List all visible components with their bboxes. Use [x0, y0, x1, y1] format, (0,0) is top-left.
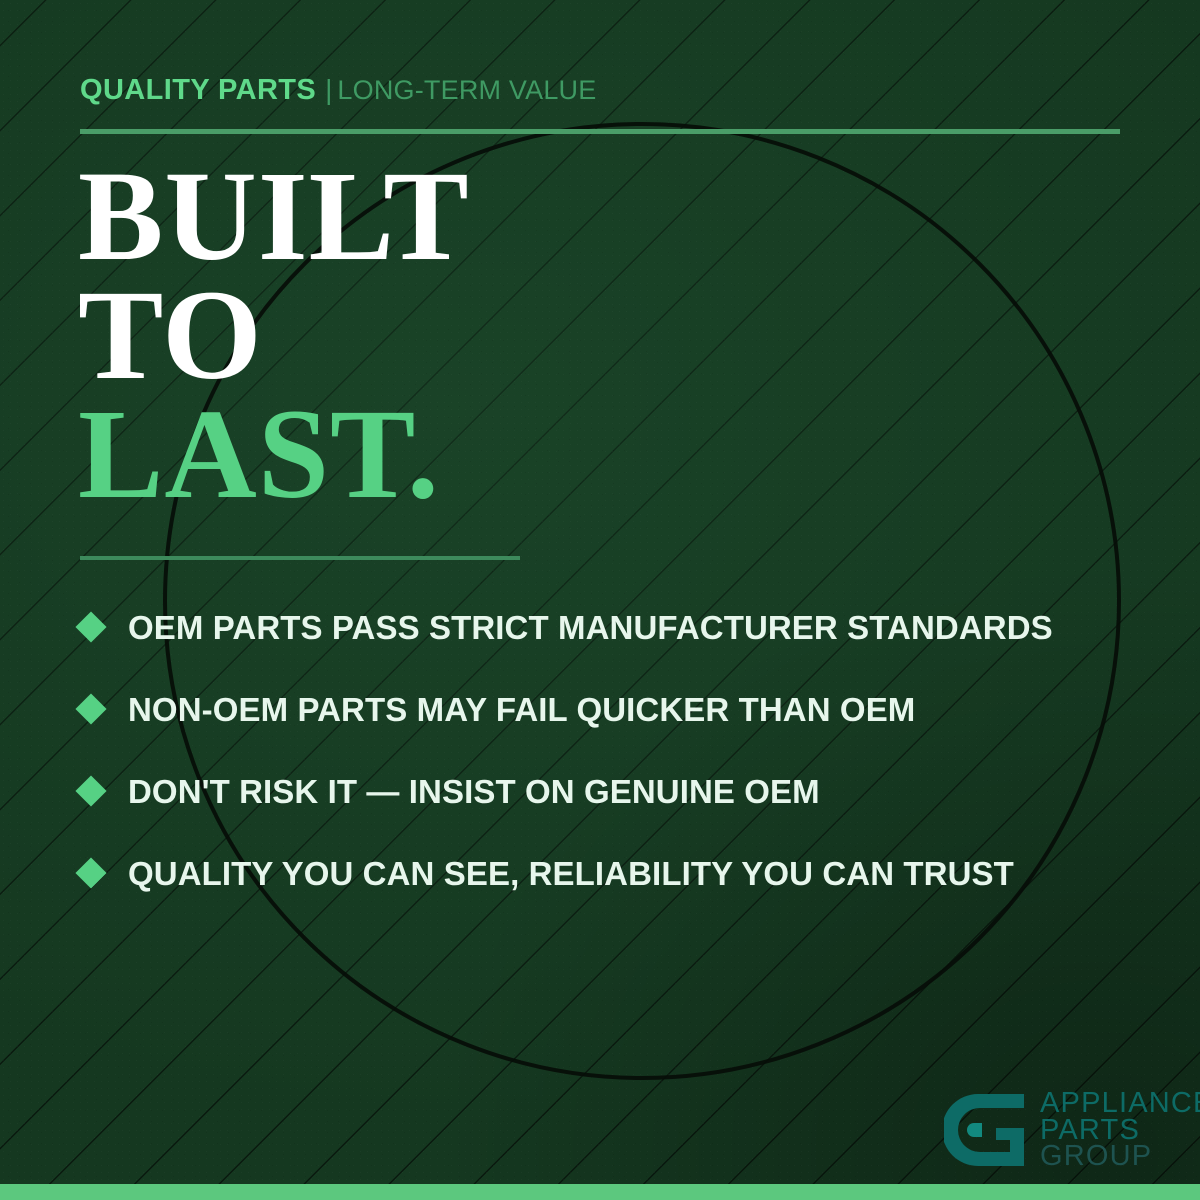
eyebrow-subtitle: LONG-TERM VALUE: [337, 75, 596, 105]
header-divider-rule: [80, 129, 1120, 134]
list-item: QUALITY YOU CAN SEE, RELIABILITY YOU CAN…: [80, 832, 1160, 914]
headline-divider-rule: [80, 556, 520, 560]
poster-content: QUALITY PARTS|LONG-TERM VALUE BUILT TO L…: [0, 0, 1200, 1200]
logo-line-parts: PARTS: [1040, 1117, 1200, 1144]
list-item-label: OEM PARTS PASS STRICT MANUFACTURER STAND…: [128, 611, 1053, 644]
benefits-list: OEM PARTS PASS STRICT MANUFACTURER STAND…: [80, 586, 1160, 914]
logo-line-group: GROUP: [1040, 1143, 1200, 1170]
bottom-accent-bar: [0, 1184, 1200, 1200]
diamond-bullet-icon: [75, 693, 106, 724]
headline-line-2: TO: [78, 276, 470, 395]
list-item-label: DON'T RISK IT — INSIST ON GENUINE OEM: [128, 775, 820, 808]
brand-logo: APPLIANCE PARTS GROUP: [944, 1088, 1200, 1172]
headline-line-3: LAST.: [78, 395, 470, 514]
diamond-bullet-icon: [75, 611, 106, 642]
list-item-label: NON-OEM PARTS MAY FAIL QUICKER THAN OEM: [128, 693, 915, 726]
eyebrow-header: QUALITY PARTS|LONG-TERM VALUE: [80, 76, 596, 105]
headline-line-1: BUILT: [78, 157, 470, 276]
brand-wordmark: APPLIANCE PARTS GROUP: [1040, 1090, 1200, 1171]
list-item: OEM PARTS PASS STRICT MANUFACTURER STAND…: [80, 586, 1160, 668]
eyebrow-separator: |: [325, 74, 332, 105]
diamond-bullet-icon: [75, 857, 106, 888]
list-item: NON-OEM PARTS MAY FAIL QUICKER THAN OEM: [80, 668, 1160, 750]
poster-canvas: QUALITY PARTS|LONG-TERM VALUE BUILT TO L…: [0, 0, 1200, 1200]
list-item-label: QUALITY YOU CAN SEE, RELIABILITY YOU CAN…: [128, 857, 1014, 890]
page-title: BUILT TO LAST.: [78, 157, 470, 514]
diamond-bullet-icon: [75, 775, 106, 806]
g-monogram-icon: [944, 1088, 1030, 1172]
eyebrow-kicker: QUALITY PARTS: [80, 74, 316, 106]
logo-line-appliance: APPLIANCE: [1040, 1090, 1200, 1117]
list-item: DON'T RISK IT — INSIST ON GENUINE OEM: [80, 750, 1160, 832]
